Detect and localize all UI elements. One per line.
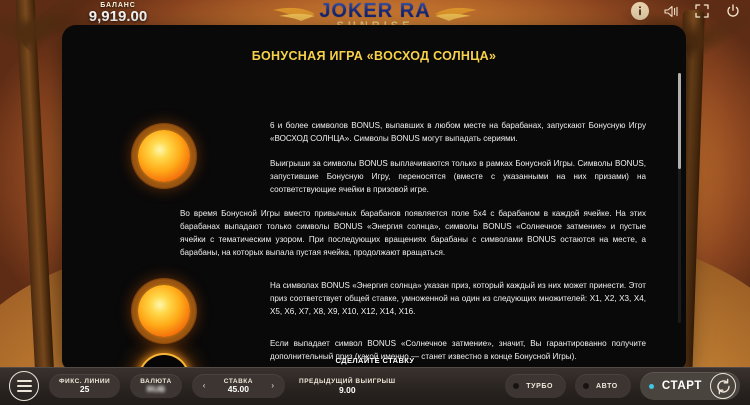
power-icon[interactable] <box>724 2 742 20</box>
auto-indicator <box>583 383 589 389</box>
previous-win-value: 9.00 <box>339 385 356 395</box>
bet-prompt: СДЕЛАЙТЕ СТАВКУ <box>0 356 750 365</box>
stake-increase-button[interactable]: › <box>266 382 279 390</box>
turbo-label: ТУРБО <box>526 383 553 390</box>
spin-icon[interactable] <box>710 373 736 399</box>
wing-right-icon <box>435 6 479 22</box>
fullscreen-icon[interactable] <box>693 2 711 20</box>
turbo-indicator <box>513 383 519 389</box>
panel-scrollbar-thumb[interactable] <box>678 73 681 169</box>
bonus-info-panel: БОНУСНАЯ ИГРА «ВОСХОД СОЛНЦА» 6 и более … <box>62 25 686 370</box>
auto-toggle[interactable]: АВТО <box>575 374 631 398</box>
start-label: СТАРТ <box>662 380 702 392</box>
paragraph-4: На символах BONUS «Энергия солнца» указа… <box>270 279 646 318</box>
balance-display: БАЛАНС 9,919.00 <box>58 2 178 26</box>
start-button[interactable]: СТАРТ <box>640 372 740 400</box>
paragraph-2: Выигрыши за символы BONUS выплачиваются … <box>270 157 646 196</box>
panel-scrollbar[interactable] <box>678 73 681 323</box>
hud-icon-group <box>631 2 742 20</box>
fixed-lines-display[interactable]: ФИКС. ЛИНИИ 25 <box>49 374 120 398</box>
turbo-toggle[interactable]: ТУРБО <box>505 374 566 398</box>
stake-selector[interactable]: ‹ СТАВКА 45.00 › <box>192 374 285 398</box>
paragraph-3: Во время Бонусной Игры вместо привычных … <box>180 207 646 259</box>
stake-decrease-button[interactable]: ‹ <box>198 382 211 390</box>
paragraph-1: 6 и более символов BONUS, выпавших в люб… <box>270 119 646 145</box>
previous-win-display: ПРЕДЫДУЩИЙ ВЫИГРЫШ 9.00 <box>299 378 396 395</box>
bottom-control-bar: СДЕЛАЙТЕ СТАВКУ ФИКС. ЛИНИИ 25 ВАЛЮТА RU… <box>0 367 750 405</box>
sun-energy-symbol <box>138 285 190 337</box>
panel-title: БОНУСНАЯ ИГРА «ВОСХОД СОЛНЦА» <box>62 25 686 63</box>
balance-value: 9,919.00 <box>58 9 178 26</box>
wing-left-icon <box>271 6 315 22</box>
currency-selector[interactable]: ВАЛЮТА RUB <box>130 374 182 398</box>
start-indicator <box>649 384 654 389</box>
previous-win-label: ПРЕДЫДУЩИЙ ВЫИГРЫШ <box>299 378 396 385</box>
info-icon[interactable] <box>631 2 649 20</box>
sound-icon[interactable] <box>662 2 680 20</box>
stake-value: 45.00 <box>228 385 249 395</box>
game-stage: БАЛАНС 9,919.00 JOKER RA SUNRISE <box>0 0 750 405</box>
logo-title: JOKER RA <box>319 0 430 23</box>
menu-button[interactable] <box>9 371 39 401</box>
sun-energy-symbol <box>138 130 190 182</box>
fixed-lines-value: 25 <box>80 385 89 395</box>
auto-label: АВТО <box>596 383 618 390</box>
currency-value: RUB <box>147 385 165 395</box>
